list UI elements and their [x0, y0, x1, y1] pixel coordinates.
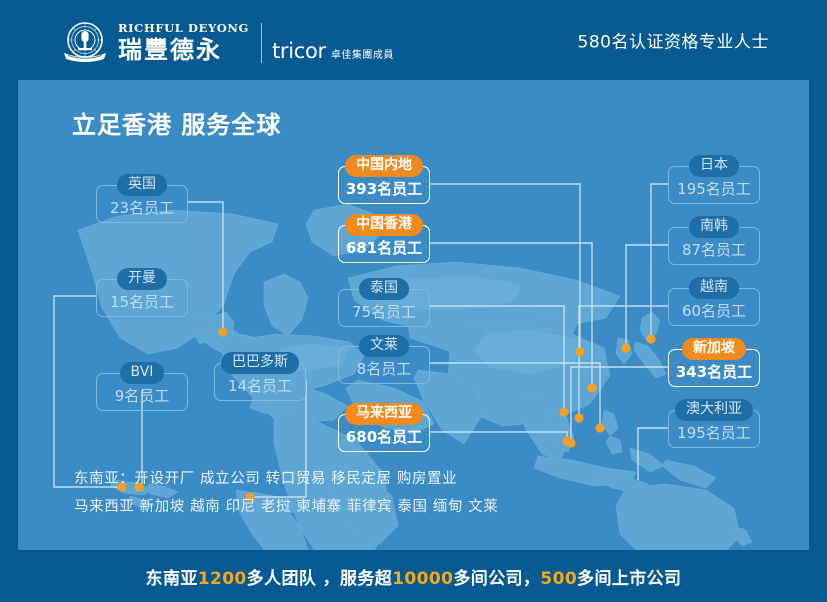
dot-thailand [559, 407, 568, 416]
location-name-brunei: 文莱 [359, 335, 409, 357]
footer-seg-1: 东南亚 [146, 569, 198, 589]
location-card-japan[interactable]: 日本195名员工 [668, 155, 760, 204]
location-card-vietnam[interactable]: 越南60名员工 [668, 277, 760, 326]
dot-mainland [575, 347, 584, 356]
page-header: RICHFUL DEYONG 瑞豐德永 tricor 卓佳集團成員 580名认证… [0, 0, 827, 80]
notes-block: 东南亚：开设开厂 成立公司 转口贸易 移民定居 购房置业 马来西亚 新加坡 越南… [74, 465, 498, 521]
dot-japan [646, 334, 655, 343]
location-card-hongkong[interactable]: 中国香港681名员工 [338, 214, 430, 263]
dot-hongkong [587, 383, 596, 392]
tricor-subtitle: 卓佳集團成員 [331, 46, 394, 61]
location-name-malaysia: 马来西亚 [345, 403, 423, 425]
footer-seg-3: 多间公司， [453, 569, 540, 589]
location-name-uk: 英国 [117, 174, 167, 196]
logo-divider [261, 23, 262, 63]
location-card-brunei[interactable]: 文莱8名员工 [338, 335, 430, 384]
location-card-cayman[interactable]: 开曼15名员工 [96, 268, 188, 317]
location-card-southkorea[interactable]: 南韩87名员工 [668, 216, 760, 265]
brand-name-cn: 瑞豐德永 [118, 36, 249, 64]
page-footer: 东南亚1200多人团队 ，服务超10000多间公司，500多间上市公司 [0, 550, 827, 602]
brand-name-en: RICHFUL DEYONG [118, 22, 249, 35]
note-line-1: 东南亚：开设开厂 成立公司 转口贸易 移民定居 购房置业 [74, 465, 498, 493]
brand-text: RICHFUL DEYONG 瑞豐德永 [118, 22, 249, 64]
map-panel: 立足香港 服务全球 [18, 80, 809, 550]
location-card-bvi[interactable]: BVI9名员工 [96, 362, 188, 411]
location-name-bvi: BVI [120, 362, 165, 384]
dot-korea [621, 343, 630, 352]
footer-seg-2: 多人团队 ，服务超 [247, 569, 393, 589]
footer-num-companies: 10000 [392, 569, 453, 589]
emblem-icon [60, 20, 110, 66]
dot-brunei [595, 423, 604, 432]
location-name-australia: 澳大利亚 [675, 399, 753, 421]
dot-vietnam [574, 413, 583, 422]
location-name-southkorea: 南韩 [689, 216, 739, 238]
location-card-singapore[interactable]: 新加坡343名员工 [668, 338, 760, 387]
location-card-mainland[interactable]: 中国内地393名员工 [338, 155, 430, 204]
header-stat: 580名认证资格专业人士 [578, 28, 769, 53]
dot-singapore [566, 438, 575, 447]
tricor-lockup: tricor 卓佳集團成員 [272, 39, 394, 66]
location-name-vietnam: 越南 [689, 277, 739, 299]
location-card-barbados[interactable]: 巴巴多斯14名员工 [214, 352, 306, 401]
location-name-cayman: 开曼 [117, 268, 167, 290]
location-card-malaysia[interactable]: 马来西亚680名员工 [338, 403, 430, 452]
location-card-uk[interactable]: 英国23名员工 [96, 174, 188, 223]
footer-summary: 东南亚1200多人团队 ，服务超10000多间公司，500多间上市公司 [146, 564, 682, 589]
footer-num-listed: 500 [540, 569, 577, 589]
location-name-singapore: 新加坡 [682, 338, 746, 360]
location-name-thailand: 泰国 [359, 278, 409, 300]
tricor-name: tricor [272, 39, 326, 63]
location-name-barbados: 巴巴多斯 [221, 352, 299, 374]
footer-seg-4: 多间上市公司 [577, 569, 681, 589]
note-line-2: 马来西亚 新加坡 越南 印尼 老挝 柬埔寨 菲律宾 泰国 缅甸 文莱 [74, 493, 498, 521]
footer-num-team: 1200 [198, 569, 247, 589]
location-name-mainland: 中国内地 [345, 155, 423, 177]
brand-logo[interactable]: RICHFUL DEYONG 瑞豐德永 tricor 卓佳集團成員 [60, 20, 394, 66]
location-card-thailand[interactable]: 泰国75名员工 [338, 278, 430, 327]
dot-uk [218, 327, 227, 336]
location-name-hongkong: 中国香港 [345, 214, 423, 236]
location-name-japan: 日本 [689, 155, 739, 177]
location-card-australia[interactable]: 澳大利亚195名员工 [668, 399, 760, 448]
